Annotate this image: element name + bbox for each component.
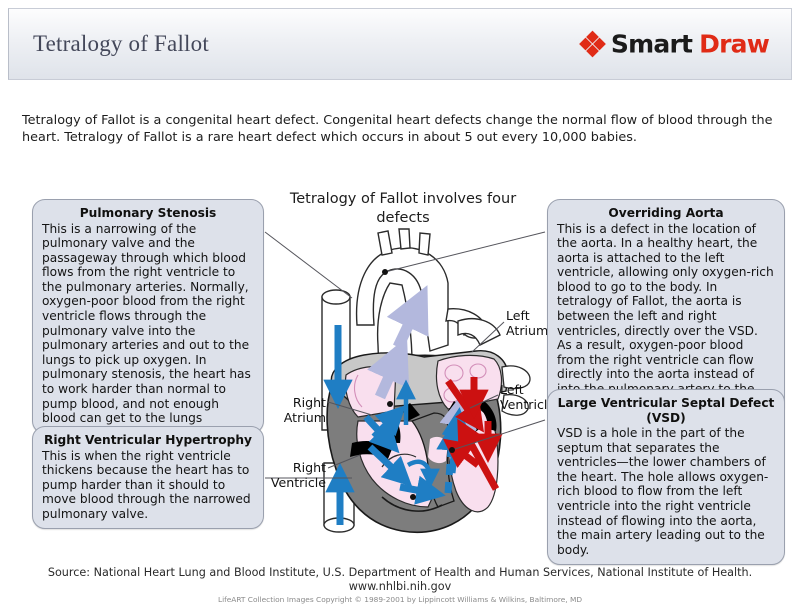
left-subclavian-artery [419, 233, 430, 255]
callout-pulmonary-stenosis: Pulmonary Stenosis This is a narrowing o… [32, 199, 264, 434]
source-citation: Source: National Heart Lung and Blood In… [0, 566, 800, 594]
callout-overriding-aorta: Overriding Aorta This is a defect in the… [547, 199, 785, 419]
callout-body: This is a narrowing of the pulmonary val… [42, 222, 254, 426]
callout-title: Large Ventricular Septal Defect (VSD) [557, 396, 775, 425]
ventricular-septal-defect-hole [428, 437, 448, 463]
red-diamond-cluster-icon [581, 33, 604, 56]
diagram-heading: Tetralogy of Fallot involves four defect… [283, 190, 523, 228]
logo-word-draw: Draw [699, 30, 769, 59]
intro-paragraph: Tetralogy of Fallot is a congenital hear… [22, 112, 782, 146]
svc-opening [322, 290, 350, 304]
logo-word-smart: Smart [611, 30, 692, 59]
label-right-atrium: Right Atrium [274, 396, 326, 425]
callout-ventricular-septal-defect: Large Ventricular Septal Defect (VSD) VS… [547, 389, 785, 565]
callout-title: Right Ventricular Hypertrophy [42, 433, 254, 448]
callout-body: This is a defect in the location of the … [557, 222, 775, 412]
callout-right-ventricular-hypertrophy: Right Ventricular Hypertrophy This is wh… [32, 426, 264, 529]
left-pulmonary-vein-upper [458, 319, 500, 345]
left-carotid-artery [399, 229, 410, 249]
callout-body: VSD is a hole in the part of the septum … [557, 426, 775, 557]
label-right-ventricle: Right Ventricle [270, 461, 326, 490]
page-title: Tetralogy of Fallot [33, 31, 209, 57]
callout-title: Pulmonary Stenosis [42, 206, 254, 221]
page-footer: Source: National Heart Lung and Blood In… [0, 566, 800, 605]
callout-title: Overriding Aorta [557, 206, 775, 221]
page-header: Tetralogy of Fallot SmartDraw [8, 8, 792, 80]
callout-body: This is when the right ventricle thicken… [42, 449, 254, 522]
smartdraw-logo: SmartDraw [581, 30, 769, 59]
brachiocephalic-artery [378, 231, 392, 255]
